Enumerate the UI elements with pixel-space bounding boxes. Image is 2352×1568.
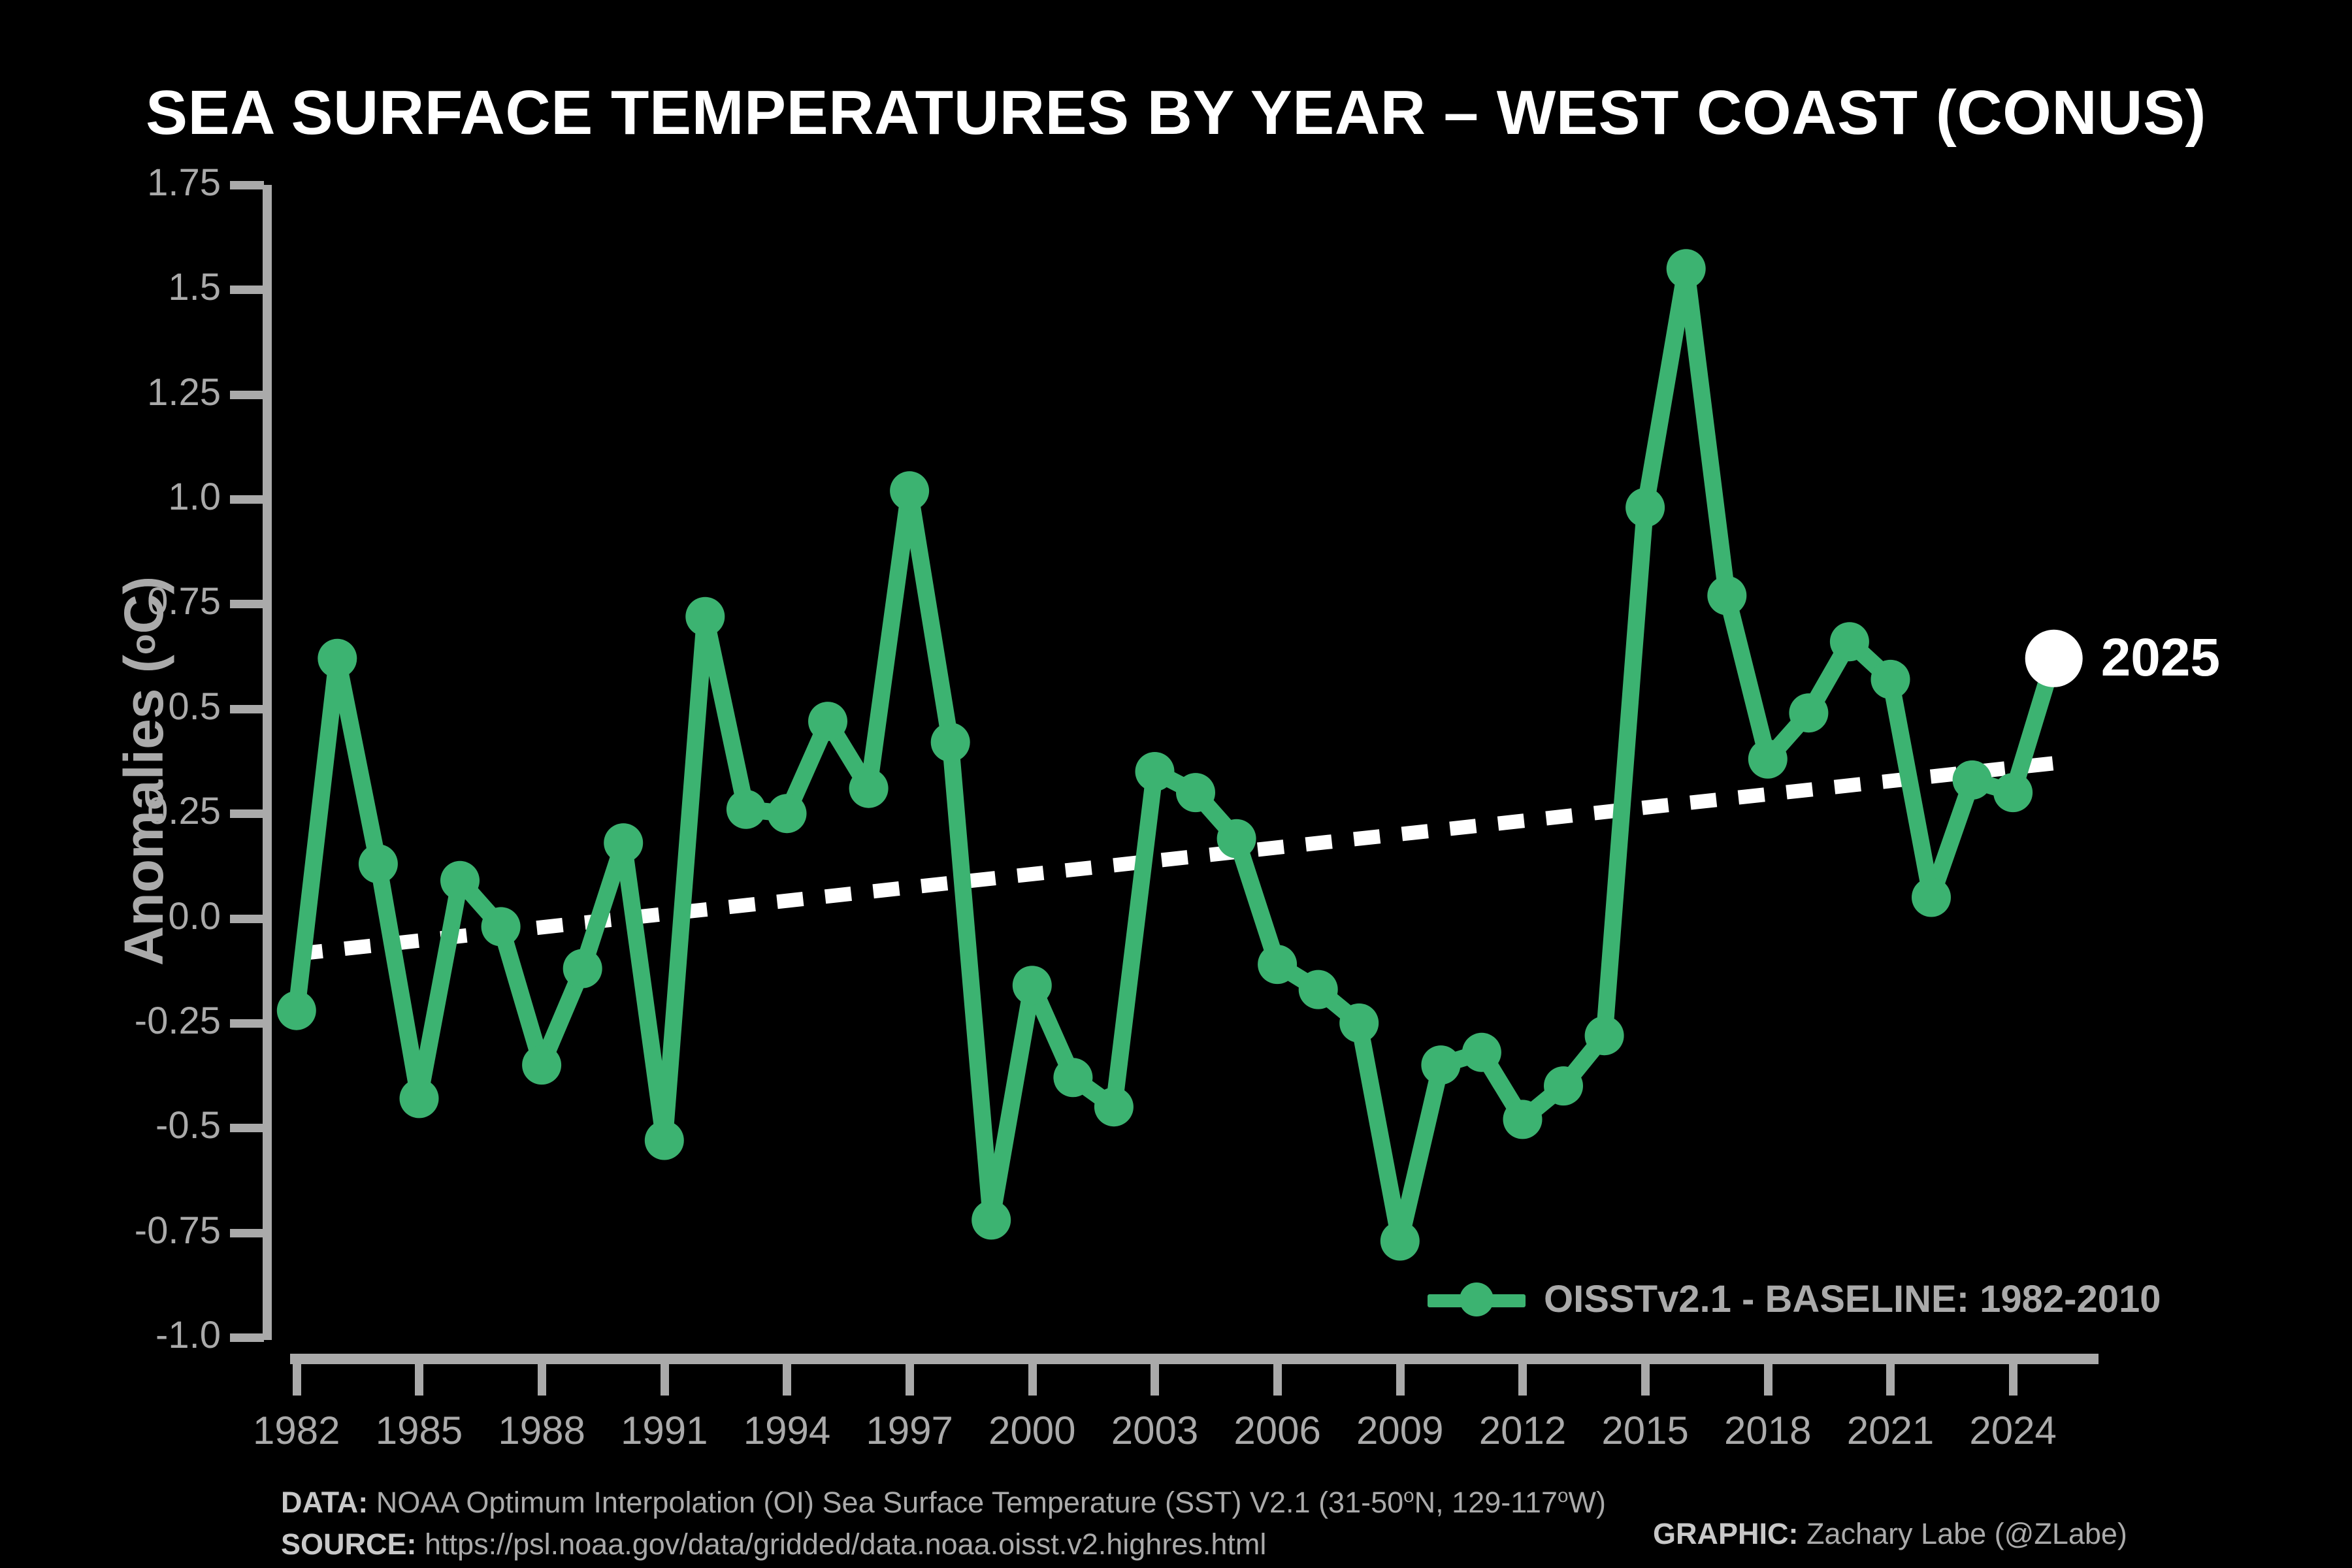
data-point-marker [1258,945,1297,984]
data-point-marker [1953,760,1992,800]
footer-graphic-credit: GRAPHIC: Zachary Labe (@ZLabe) [1653,1517,2127,1551]
x-axis-tick [2009,1364,2017,1396]
y-axis-tick [230,1229,264,1237]
data-point-marker [2034,639,2074,678]
y-axis-tick [230,391,264,399]
x-axis-tick-label: 1982 [253,1408,340,1453]
legend-label: OISSTv2.1 - BASELINE: 1982-2010 [1544,1277,2161,1321]
y-axis-tick [230,809,264,818]
highlight-marker-2025 [2025,630,2083,687]
y-axis-tick [230,915,264,923]
x-axis-tick [415,1364,423,1396]
x-axis-tick [1396,1364,1405,1396]
trend-line [297,763,2054,954]
x-axis-tick-label: 2015 [1601,1408,1688,1453]
data-point-marker [1462,1033,1501,1072]
y-axis-tick [230,286,264,294]
data-point-marker [1667,249,1706,288]
y-axis-title-pre: Anomalies ( [112,655,176,966]
x-axis-tick [293,1364,301,1396]
data-point-marker [1217,819,1256,858]
x-axis-tick [1641,1364,1650,1396]
data-point-marker [277,991,316,1030]
data-point-marker [931,723,970,762]
x-axis-tick-label: 1991 [621,1408,708,1453]
x-axis-tick [1886,1364,1895,1396]
data-point-marker [1013,966,1052,1005]
footer-graphic-text: Zachary Labe (@ZLabe) [1799,1517,2127,1550]
y-axis-tick [230,495,264,504]
y-axis-tick [230,1124,264,1132]
x-axis-tick [783,1364,791,1396]
page-title: SEA SURFACE TEMPERATURES BY YEAR – WEST … [0,77,2352,149]
data-point-marker [440,861,480,900]
x-axis-tick-label: 1985 [376,1408,463,1453]
data-point-marker [400,1079,439,1118]
x-axis-tick [1518,1364,1527,1396]
degree-symbol-icon: o [1403,1485,1414,1507]
data-point-marker [1625,488,1665,527]
data-point-marker [1094,1087,1134,1126]
data-point-marker [1789,693,1828,732]
x-axis-tick-label: 2006 [1233,1408,1320,1453]
x-axis-tick-label: 1994 [743,1408,830,1453]
x-axis-tick [1028,1364,1037,1396]
data-point-marker [1380,1222,1420,1261]
data-point-marker [1993,773,2033,812]
data-point-marker [318,639,357,678]
data-point-marker [1053,1058,1092,1097]
data-point-marker [1299,970,1338,1009]
x-axis-tick-label: 2000 [988,1408,1075,1453]
data-point-marker [1339,1004,1379,1043]
footer-data-key: DATA: [281,1486,368,1519]
footer-source-block: DATA: NOAA Optimum Interpolation (OI) Se… [281,1482,1606,1565]
y-axis-tick [230,181,264,189]
x-axis-tick [1273,1364,1282,1396]
footer-graphic-key: GRAPHIC: [1653,1517,1799,1550]
x-axis-tick [538,1364,546,1396]
x-axis-tick-label: 2012 [1479,1408,1566,1453]
legend-dot-icon [1460,1282,1494,1316]
x-axis-tick-label: 2009 [1356,1408,1443,1453]
data-point-marker [1871,660,1910,699]
data-point-marker [727,790,766,829]
y-axis-tick [230,600,264,608]
data-point-marker [604,823,643,862]
x-axis-tick-label: 2021 [1847,1408,1934,1453]
y-axis-tick [230,1019,264,1028]
data-point-marker [1503,1100,1543,1139]
data-point-marker [972,1200,1011,1239]
y-axis-title-post: C) [112,576,176,634]
legend-swatch [1428,1280,1526,1319]
y-axis-spine [263,185,272,1340]
footer-source-url[interactable]: https://psl.noaa.gov/data/gridded/data.n… [417,1527,1267,1561]
footer-data-text-a: NOAA Optimum Interpolation (OI) Sea Surf… [368,1486,1403,1519]
chart-figure: SEA SURFACE TEMPERATURES BY YEAR – WEST … [0,0,2352,1568]
footer-data-text-c: W) [1568,1486,1605,1519]
series-plot [0,0,2352,1568]
data-point-marker [890,471,929,510]
data-point-marker [1707,576,1746,615]
degree-symbol-icon: o [124,634,163,655]
data-point-marker [849,769,889,808]
data-point-marker [1585,1016,1624,1055]
data-point-marker [563,949,602,988]
data-point-marker [808,702,847,741]
data-point-marker [482,907,521,946]
data-point-marker [1421,1045,1460,1085]
x-axis-tick [661,1364,669,1396]
data-point-marker [685,597,725,636]
data-point-marker [1544,1066,1583,1105]
x-axis-spine [290,1354,2099,1364]
highlight-year-label: 2025 [2101,627,2220,689]
series-markers [277,249,2074,1260]
footer-source-line: SOURCE: https://psl.noaa.gov/data/gridde… [281,1524,1606,1565]
y-axis-tick [230,705,264,713]
footer-data-text-b: N, 129-117 [1414,1486,1558,1519]
data-point-marker [768,794,807,833]
x-axis-tick [1764,1364,1772,1396]
data-point-marker [1830,622,1869,661]
x-axis-tick-label: 1997 [866,1408,953,1453]
y-axis-title: Anomalies (oC) [101,196,186,1346]
x-axis-tick-label: 1988 [498,1408,585,1453]
data-point-marker [359,844,398,883]
data-point-marker [1176,773,1215,812]
series-line-oisst [297,269,2054,1241]
data-point-marker [522,1045,561,1085]
footer-data-line: DATA: NOAA Optimum Interpolation (OI) Se… [281,1482,1606,1524]
data-point-marker [1912,878,1951,917]
x-axis-tick [1151,1364,1159,1396]
x-axis-tick-label: 2003 [1111,1408,1198,1453]
y-axis-tick [230,1333,264,1342]
data-point-marker [1748,740,1788,779]
data-point-marker [1135,752,1175,791]
x-axis-tick-label: 2018 [1724,1408,1811,1453]
x-axis-tick-label: 2024 [1969,1408,2056,1453]
x-axis-tick [906,1364,914,1396]
legend: OISSTv2.1 - BASELINE: 1982-2010 [1428,1277,2161,1321]
data-point-marker [645,1121,684,1160]
footer-source-key: SOURCE: [281,1527,417,1561]
degree-symbol-icon: o [1558,1485,1569,1507]
